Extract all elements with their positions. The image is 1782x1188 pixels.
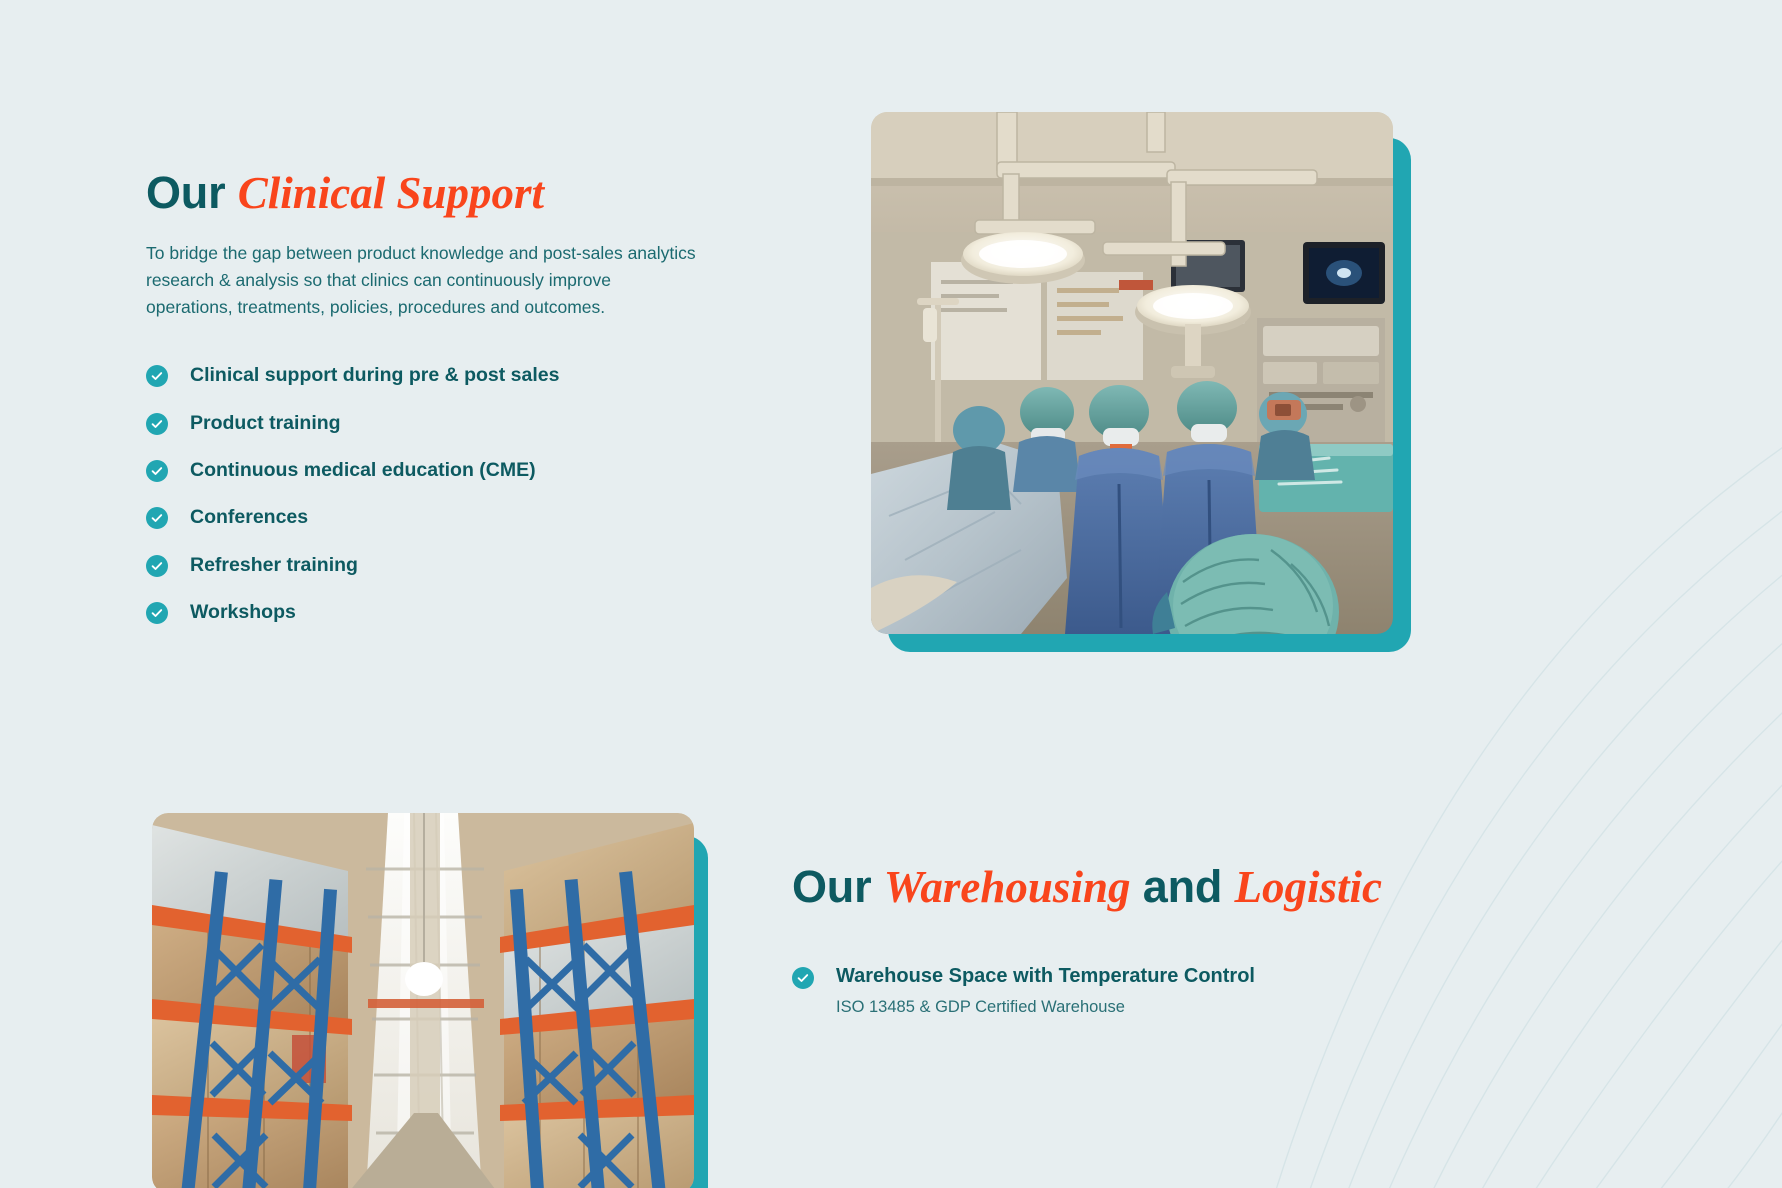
warehousing-logistic-section: Our Warehousing and Logistic Warehouse S… xyxy=(792,862,1552,1019)
warehousing-logistic-heading: Our Warehousing and Logistic xyxy=(792,862,1552,912)
list-item-label: Continuous medical education (CME) xyxy=(190,459,536,482)
list-item-label: Clinical support during pre & post sales xyxy=(190,364,559,387)
heading-word-accent-1: Warehousing xyxy=(884,862,1131,912)
list-item: Refresher training xyxy=(146,554,746,577)
check-circle-icon xyxy=(146,555,168,577)
warehouse-image-card xyxy=(152,813,712,1188)
check-circle-icon xyxy=(146,365,168,387)
page-root: Our Clinical Support To bridge the gap b… xyxy=(0,0,1782,1188)
operating-room-image-card xyxy=(871,112,1416,657)
check-circle-icon xyxy=(146,413,168,435)
list-item-label: Conferences xyxy=(190,506,308,529)
heading-word-plain: Our xyxy=(146,167,225,218)
list-item-label: Refresher training xyxy=(190,554,358,577)
list-item-subtitle: ISO 13485 & GDP Certified Warehouse xyxy=(836,997,1255,1018)
warehouse-racking-photo xyxy=(152,813,694,1188)
clinical-support-checklist: Clinical support during pre & post sales… xyxy=(146,364,746,624)
clinical-support-paragraph: To bridge the gap between product knowle… xyxy=(146,240,702,320)
operating-room-photo xyxy=(871,112,1393,634)
list-item-label: Product training xyxy=(190,412,341,435)
clinical-support-heading: Our Clinical Support xyxy=(146,168,746,218)
check-circle-icon xyxy=(792,967,814,989)
clinical-support-section: Our Clinical Support To bridge the gap b… xyxy=(146,168,746,625)
list-item: Product training xyxy=(146,412,746,435)
list-item-body: Warehouse Space with Temperature Control… xyxy=(836,964,1255,1018)
heading-word-plain-1: Our xyxy=(792,861,871,912)
list-item: Continuous medical education (CME) xyxy=(146,459,746,482)
heading-word-accent-2: Logistic xyxy=(1235,862,1382,912)
heading-word-accent: Clinical Support xyxy=(238,168,544,218)
check-circle-icon xyxy=(146,460,168,482)
check-circle-icon xyxy=(146,507,168,529)
list-item-label: Workshops xyxy=(190,601,296,624)
list-item: Warehouse Space with Temperature Control… xyxy=(792,964,1552,1018)
heading-word-plain-2: and xyxy=(1143,861,1222,912)
list-item: Workshops xyxy=(146,601,746,624)
check-circle-icon xyxy=(146,602,168,624)
list-item: Clinical support during pre & post sales xyxy=(146,364,746,387)
list-item-title: Warehouse Space with Temperature Control xyxy=(836,964,1255,989)
list-item: Conferences xyxy=(146,506,746,529)
